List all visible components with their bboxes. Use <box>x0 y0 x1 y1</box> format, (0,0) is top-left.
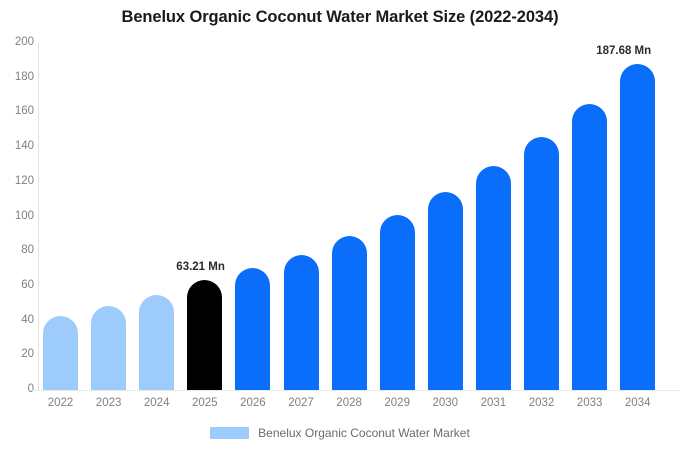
y-axis-tick-100: 100 <box>0 211 34 223</box>
x-axis-tick-2033: 2033 <box>572 398 607 410</box>
legend-label-benelux-organic-coconut-water-market: Benelux Organic Coconut Water Market <box>258 426 470 440</box>
value-label-2034: 187.68 Mn <box>596 45 651 57</box>
bar-group-2033[interactable]: 2033 <box>572 43 607 390</box>
bar-group-2034[interactable]: 2034 <box>620 43 655 390</box>
bar-2027[interactable] <box>284 255 319 390</box>
x-axis-tick-2031: 2031 <box>476 398 511 410</box>
bar-group-2026[interactable]: 2026 <box>235 43 270 390</box>
x-axis-tick-2023: 2023 <box>91 398 126 410</box>
bar-2030[interactable] <box>428 192 463 390</box>
bar-2031[interactable] <box>476 166 511 390</box>
bar-group-2025[interactable]: 2025 <box>187 43 222 390</box>
x-axis-tick-2026: 2026 <box>235 398 270 410</box>
bar-group-2022[interactable]: 2022 <box>43 43 78 390</box>
y-axis-tick-0: 0 <box>0 384 34 396</box>
bar-group-2028[interactable]: 2028 <box>332 43 367 390</box>
y-axis-tick-120: 120 <box>0 176 34 188</box>
bar-group-2023[interactable]: 2023 <box>91 43 126 390</box>
x-axis-tick-2028: 2028 <box>332 398 367 410</box>
chart-title: Benelux Organic Coconut Water Market Siz… <box>0 8 680 27</box>
bar-group-2032[interactable]: 2032 <box>524 43 559 390</box>
bar-2024[interactable] <box>139 295 174 390</box>
x-axis-line <box>30 390 680 391</box>
y-axis-tick-160: 160 <box>0 106 34 118</box>
y-axis-tick-40: 40 <box>0 315 34 327</box>
x-axis-tick-2025: 2025 <box>187 398 222 410</box>
chart-container: Benelux Organic Coconut Water Market Siz… <box>0 0 680 450</box>
y-axis-tick-200: 200 <box>0 37 34 49</box>
bar-2025[interactable] <box>187 280 222 390</box>
x-axis-tick-2032: 2032 <box>524 398 559 410</box>
bar-group-2024[interactable]: 2024 <box>139 43 174 390</box>
bar-group-2030[interactable]: 2030 <box>428 43 463 390</box>
value-label-2025: 63.21 Mn <box>176 261 225 273</box>
y-axis-tick-80: 80 <box>0 245 34 257</box>
bar-group-2027[interactable]: 2027 <box>284 43 319 390</box>
plot-area: 202220232024202563.21 Mn2026202720282029… <box>38 43 680 390</box>
y-axis-tick-140: 140 <box>0 141 34 153</box>
chart-legend: Benelux Organic Coconut Water Market <box>0 426 680 440</box>
y-axis-tick-20: 20 <box>0 349 34 361</box>
x-axis-tick-2034: 2034 <box>620 398 655 410</box>
y-axis-tick-labels: 200180160140120100806040200 <box>0 0 34 450</box>
bar-group-2031[interactable]: 2031 <box>476 43 511 390</box>
bar-2034[interactable] <box>620 64 655 390</box>
x-axis-tick-2030: 2030 <box>428 398 463 410</box>
bar-2029[interactable] <box>380 215 415 390</box>
x-axis-tick-2029: 2029 <box>380 398 415 410</box>
bar-2023[interactable] <box>91 306 126 390</box>
x-axis-tick-2027: 2027 <box>284 398 319 410</box>
bar-2032[interactable] <box>524 137 559 390</box>
bar-group-2029[interactable]: 2029 <box>380 43 415 390</box>
legend-swatch-benelux-organic-coconut-water-market <box>210 427 249 439</box>
bar-2033[interactable] <box>572 104 607 390</box>
y-axis-tick-60: 60 <box>0 280 34 292</box>
bar-2028[interactable] <box>332 236 367 390</box>
bar-2026[interactable] <box>235 268 270 390</box>
x-axis-tick-2024: 2024 <box>139 398 174 410</box>
bar-2022[interactable] <box>43 316 78 390</box>
y-axis-tick-180: 180 <box>0 72 34 84</box>
x-axis-tick-2022: 2022 <box>43 398 78 410</box>
